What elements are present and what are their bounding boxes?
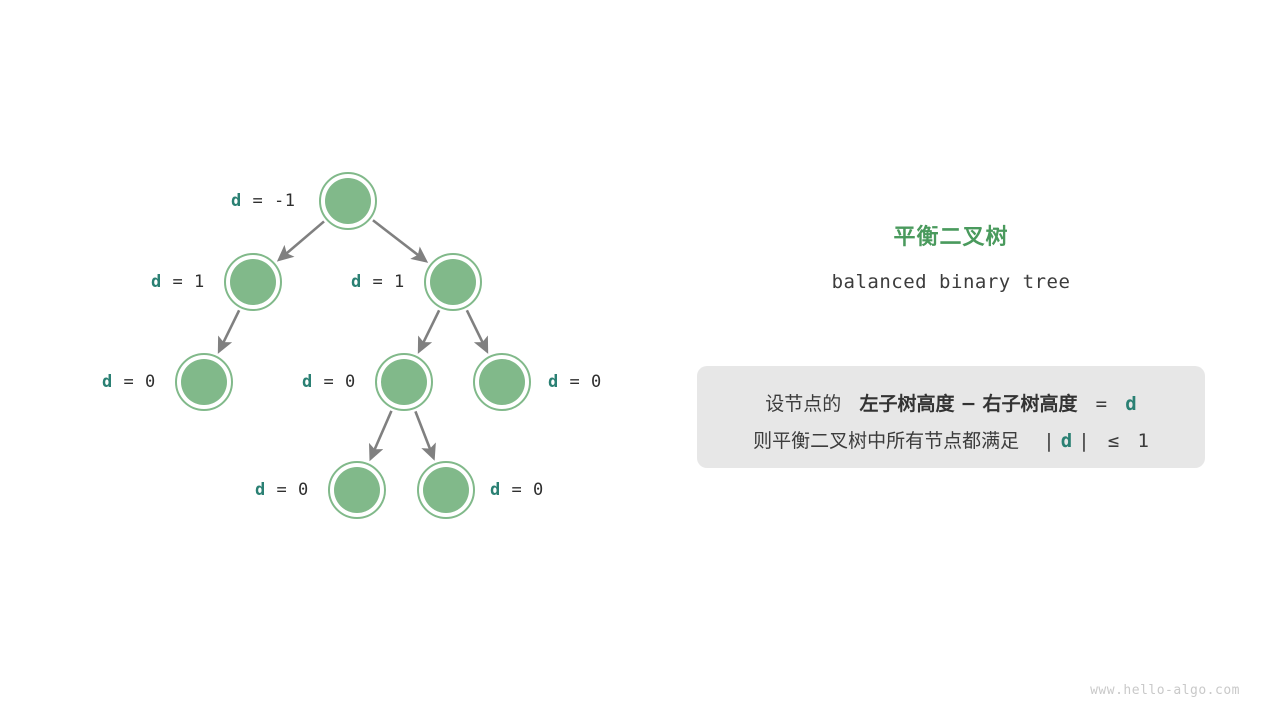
label-variable: d bbox=[351, 272, 362, 292]
balance-factor-var-2: d bbox=[1061, 430, 1072, 452]
node-fill bbox=[334, 467, 380, 513]
tree-node[interactable] bbox=[474, 354, 530, 410]
tree-edge bbox=[373, 220, 426, 261]
label-value: = 1 bbox=[162, 272, 205, 292]
node-fill bbox=[423, 467, 469, 513]
tree-node[interactable] bbox=[176, 354, 232, 410]
panel-subtitle: balanced binary tree bbox=[697, 271, 1205, 293]
label-value: = 0 bbox=[501, 480, 544, 500]
node-degree-label: d = -1 bbox=[231, 191, 295, 211]
binary-tree-graphic bbox=[0, 0, 660, 720]
node-fill bbox=[430, 259, 476, 305]
abs-bar-open: | bbox=[1043, 430, 1054, 452]
definition-condition-text: 则平衡二叉树中所有节点都满足 bbox=[753, 430, 1019, 452]
label-variable: d bbox=[231, 191, 242, 211]
node-degree-label: d = 0 bbox=[548, 372, 602, 392]
watermark: www.hello-algo.com bbox=[1090, 683, 1240, 698]
node-fill bbox=[181, 359, 227, 405]
balance-factor-var: d bbox=[1125, 393, 1136, 415]
definition-box: 设节点的 左子树高度 − 右子树高度 = d 则平衡二叉树中所有节点都满足 | … bbox=[697, 366, 1205, 468]
tree-node[interactable] bbox=[418, 462, 474, 518]
abs-bar-close: | bbox=[1078, 430, 1089, 452]
node-degree-label: d = 0 bbox=[102, 372, 156, 392]
panel-title: 平衡二叉树 bbox=[697, 225, 1205, 251]
node-fill bbox=[381, 359, 427, 405]
label-value: = 0 bbox=[266, 480, 309, 500]
label-value: = 0 bbox=[313, 372, 356, 392]
less-equal-operator: ≤ bbox=[1108, 430, 1119, 452]
label-variable: d bbox=[490, 480, 501, 500]
label-variable: d bbox=[102, 372, 113, 392]
left-subtree-height-term: 左子树高度 bbox=[859, 393, 954, 415]
tree-edge bbox=[467, 310, 487, 351]
right-subtree-height-term: 右子树高度 bbox=[982, 393, 1077, 415]
tree-edge bbox=[279, 221, 324, 259]
label-variable: d bbox=[548, 372, 559, 392]
label-variable: d bbox=[255, 480, 266, 500]
tree-edge bbox=[371, 411, 392, 458]
label-value: = 1 bbox=[362, 272, 405, 292]
label-variable: d bbox=[151, 272, 162, 292]
tree-node[interactable] bbox=[329, 462, 385, 518]
node-fill bbox=[479, 359, 525, 405]
tree-edge bbox=[219, 310, 239, 351]
tree-node[interactable] bbox=[376, 354, 432, 410]
definition-line-2: 则平衡二叉树中所有节点都满足 | d | ≤ 1 bbox=[697, 423, 1205, 460]
label-value: = 0 bbox=[113, 372, 156, 392]
tree-nodes bbox=[176, 173, 530, 518]
info-panel: 平衡二叉树 balanced binary tree bbox=[697, 225, 1205, 293]
node-degree-label: d = 1 bbox=[151, 272, 205, 292]
label-variable: d bbox=[302, 372, 313, 392]
node-degree-label: d = 0 bbox=[302, 372, 356, 392]
tree-edges bbox=[219, 220, 487, 458]
node-degree-label: d = 0 bbox=[255, 480, 309, 500]
tree-edge bbox=[415, 411, 433, 457]
label-value: = 0 bbox=[559, 372, 602, 392]
definition-prefix: 设节点的 bbox=[765, 393, 841, 415]
diagram-canvas: d = -1d = 1d = 1d = 0d = 0d = 0d = 0d = … bbox=[0, 0, 1280, 720]
node-degree-label: d = 0 bbox=[490, 480, 544, 500]
tree-edge bbox=[419, 310, 439, 351]
threshold-value: 1 bbox=[1137, 430, 1148, 452]
label-value: = -1 bbox=[242, 191, 296, 211]
minus-operator: − bbox=[961, 393, 977, 415]
tree-node[interactable] bbox=[320, 173, 376, 229]
definition-line-1: 设节点的 左子树高度 − 右子树高度 = d bbox=[697, 386, 1205, 423]
equals-operator: = bbox=[1096, 393, 1107, 415]
node-fill bbox=[230, 259, 276, 305]
tree-node[interactable] bbox=[225, 254, 281, 310]
node-fill bbox=[325, 178, 371, 224]
node-degree-label: d = 1 bbox=[351, 272, 405, 292]
tree-node[interactable] bbox=[425, 254, 481, 310]
